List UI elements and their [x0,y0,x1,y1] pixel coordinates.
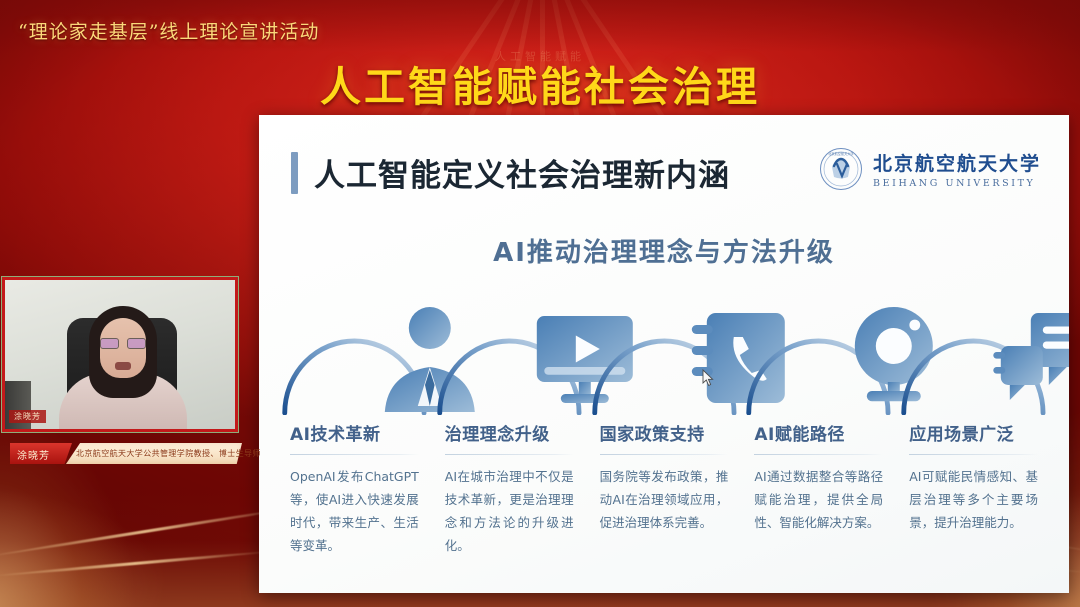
logo-name-cn: 北京航空航天大学 [873,149,1041,176]
column-card: 治理理念升级 AI在城市治理中不仅是技术革新，更是治理理念和方法论的升级进化。 [432,420,587,585]
column-rule [290,454,419,455]
eyeglasses-icon [100,338,146,349]
logo-name-en: BEIHANG UNIVERSITY [873,178,1041,189]
slide-heading-group: 人工智能定义社会治理新内涵 [291,150,730,195]
slide-heading: 人工智能定义社会治理新内涵 [314,150,730,195]
column-cards-row: AI技术革新 OpenAI发布ChatGPT等，使AI进入快速发展时代，带来生产… [277,420,1051,585]
logo-text-block: 北京航空航天大学 BEIHANG UNIVERSITY [873,149,1041,189]
column-body: OpenAI发布ChatGPT等，使AI进入快速发展时代，带来生产、生活等变革。 [290,465,419,558]
event-banner: “理论家走基层”线上理论宣讲活动 [18,23,319,42]
arch-cell [896,295,1051,415]
column-title: 治理理念升级 [445,420,574,445]
svg-text:北京航空航天大学: 北京航空航天大学 [828,151,854,156]
arch-cell [587,295,742,415]
column-card: 国家政策支持 国务院等发布政策，推动AI在治理领域应用，促进治理体系完善。 [587,420,742,585]
title-watermark: 人工智能赋能 [0,48,1080,64]
column-title: AI技术革新 [290,420,419,445]
speaker-webcam-tile[interactable]: 涂晓芳 [2,277,238,432]
column-body: 国务院等发布政策，推动AI在治理领域应用，促进治理体系完善。 [600,465,729,534]
column-rule [445,454,574,455]
column-title: AI赋能路径 [754,420,883,445]
column-body: AI可赋能民情感知、基层治理等多个主要场景，提升治理能力。 [909,465,1038,534]
column-title: 应用场景广泛 [909,420,1038,445]
speaker-name: 涂晓芳 [17,447,50,462]
column-body: AI通过数据整合等路径赋能治理，提供全局性、智能化解决方案。 [754,465,883,534]
column-card: 应用场景广泛 AI可赋能民情感知、基层治理等多个主要场景，提升治理能力。 [896,420,1051,585]
webcam-speaker-mouth [115,362,131,370]
column-body: AI在城市治理中不仅是技术革新，更是治理理念和方法论的升级进化。 [445,465,574,558]
chat-bubbles-icon [972,295,1069,415]
speaker-title: 北京航空航天大学公共管理学院教授、博士生导师 [76,448,261,459]
university-seal-icon: 北京航空航天大学 [819,147,863,191]
presentation-slide: 人工智能定义社会治理新内涵 北京航空航天大学 北京航空航天大学 BEIHANG … [259,115,1069,593]
arch-diagram-row [277,295,1051,415]
column-title: 国家政策支持 [600,420,729,445]
column-card: AI技术革新 OpenAI发布ChatGPT等，使AI进入快速发展时代，带来生产… [277,420,432,585]
university-logo: 北京航空航天大学 北京航空航天大学 BEIHANG UNIVERSITY [819,147,1041,191]
arch-cell [741,295,896,415]
arch-cell [277,295,432,415]
column-card: AI赋能路径 AI通过数据整合等路径赋能治理，提供全局性、智能化解决方案。 [741,420,896,585]
page-title: 人工智能赋能社会治理 [0,64,1080,111]
webcam-name-label: 涂晓芳 [9,410,46,423]
column-rule [754,454,883,455]
arch-cell [432,295,587,415]
speaker-name-ribbon: 涂晓芳 北京航空航天大学公共管理学院教授、博士生导师 [10,443,242,464]
slide-subtitle: AI推动治理理念与方法升级 [259,232,1069,269]
column-rule [909,454,1038,455]
heading-accent-bar [291,152,298,194]
column-rule [600,454,729,455]
mouse-cursor-icon [702,369,714,387]
